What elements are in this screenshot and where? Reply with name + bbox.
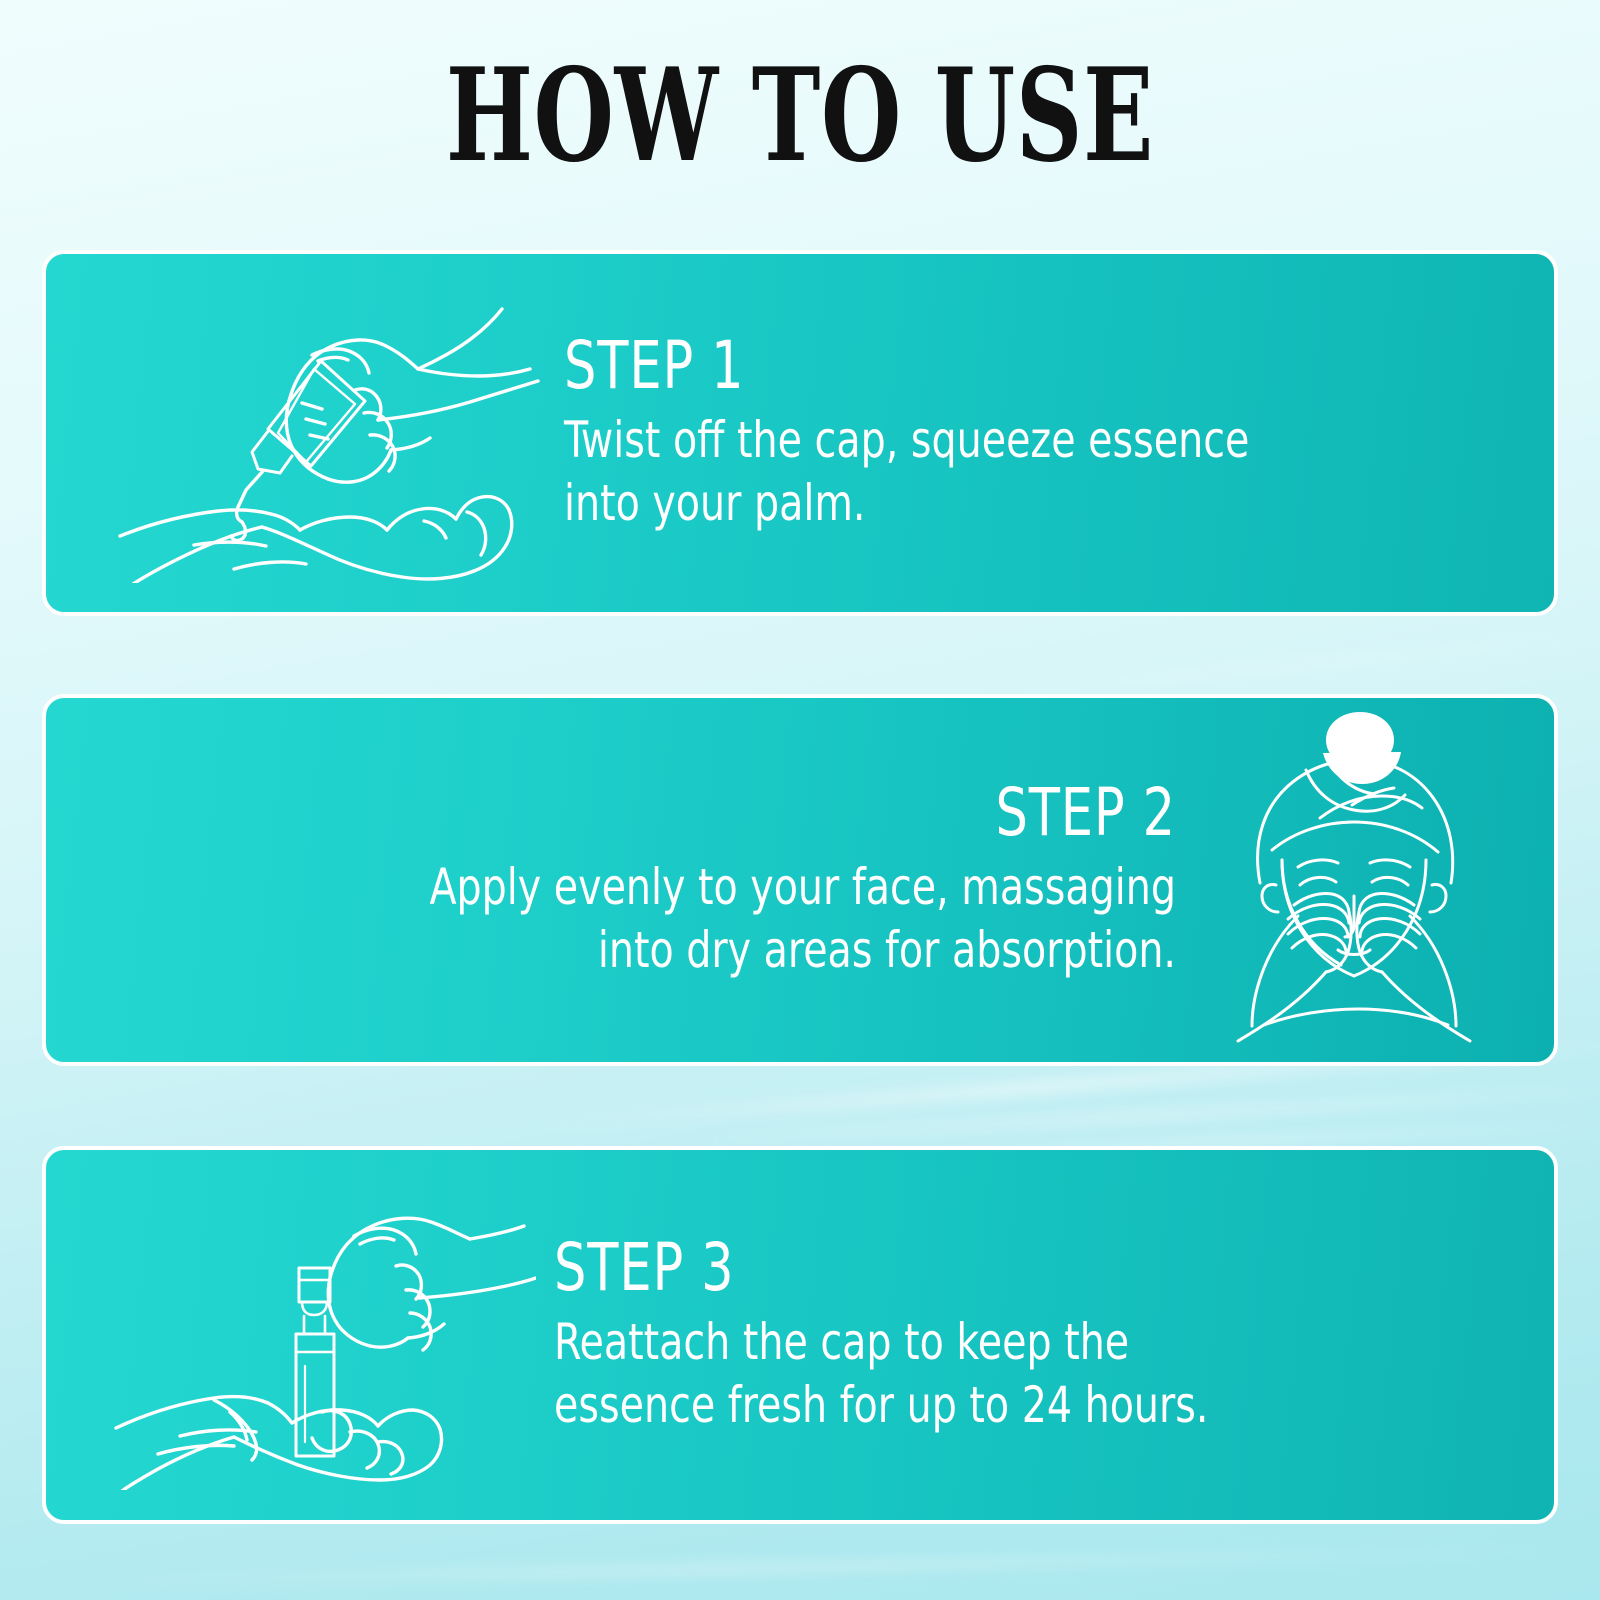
background-swoosh: [60, 1544, 1560, 1589]
step-2-label: STEP 2: [256, 778, 1176, 847]
step-2-description: Apply evenly to your face, massaging int…: [234, 856, 1176, 982]
step-3-label: STEP 3: [554, 1233, 1380, 1302]
step-card-1: STEP 1 Twist off the cap, squeeze essenc…: [42, 250, 1558, 616]
background-swoosh: [981, 632, 1600, 698]
hands-reattaching-cap-to-ampoule-icon: [106, 1180, 536, 1490]
step-2-text: STEP 2 Apply evenly to your face, massag…: [46, 778, 1202, 981]
how-to-use-infographic: HOW TO USE: [0, 0, 1600, 1600]
step-card-3: STEP 3 Reattach the cap to keep the esse…: [42, 1146, 1558, 1524]
step-card-2: STEP 2 Apply evenly to your face, massag…: [42, 694, 1558, 1066]
hand-squeezing-ampoule-into-palm-icon: [106, 283, 546, 583]
page-title: HOW TO USE: [224, 52, 1376, 180]
background-swoosh: [700, 1082, 1600, 1146]
step-3-text: STEP 3 Reattach the cap to keep the esse…: [536, 1233, 1554, 1436]
step-1-description: Twist off the cap, squeeze essence into …: [564, 409, 1400, 535]
woman-with-hair-towel-massaging-face-icon: [1202, 700, 1502, 1060]
step-1-text: STEP 1 Twist off the cap, squeeze essenc…: [546, 331, 1554, 534]
step-3-description: Reattach the cap to keep the essence fre…: [554, 1311, 1399, 1437]
step-1-label: STEP 1: [564, 331, 1381, 400]
